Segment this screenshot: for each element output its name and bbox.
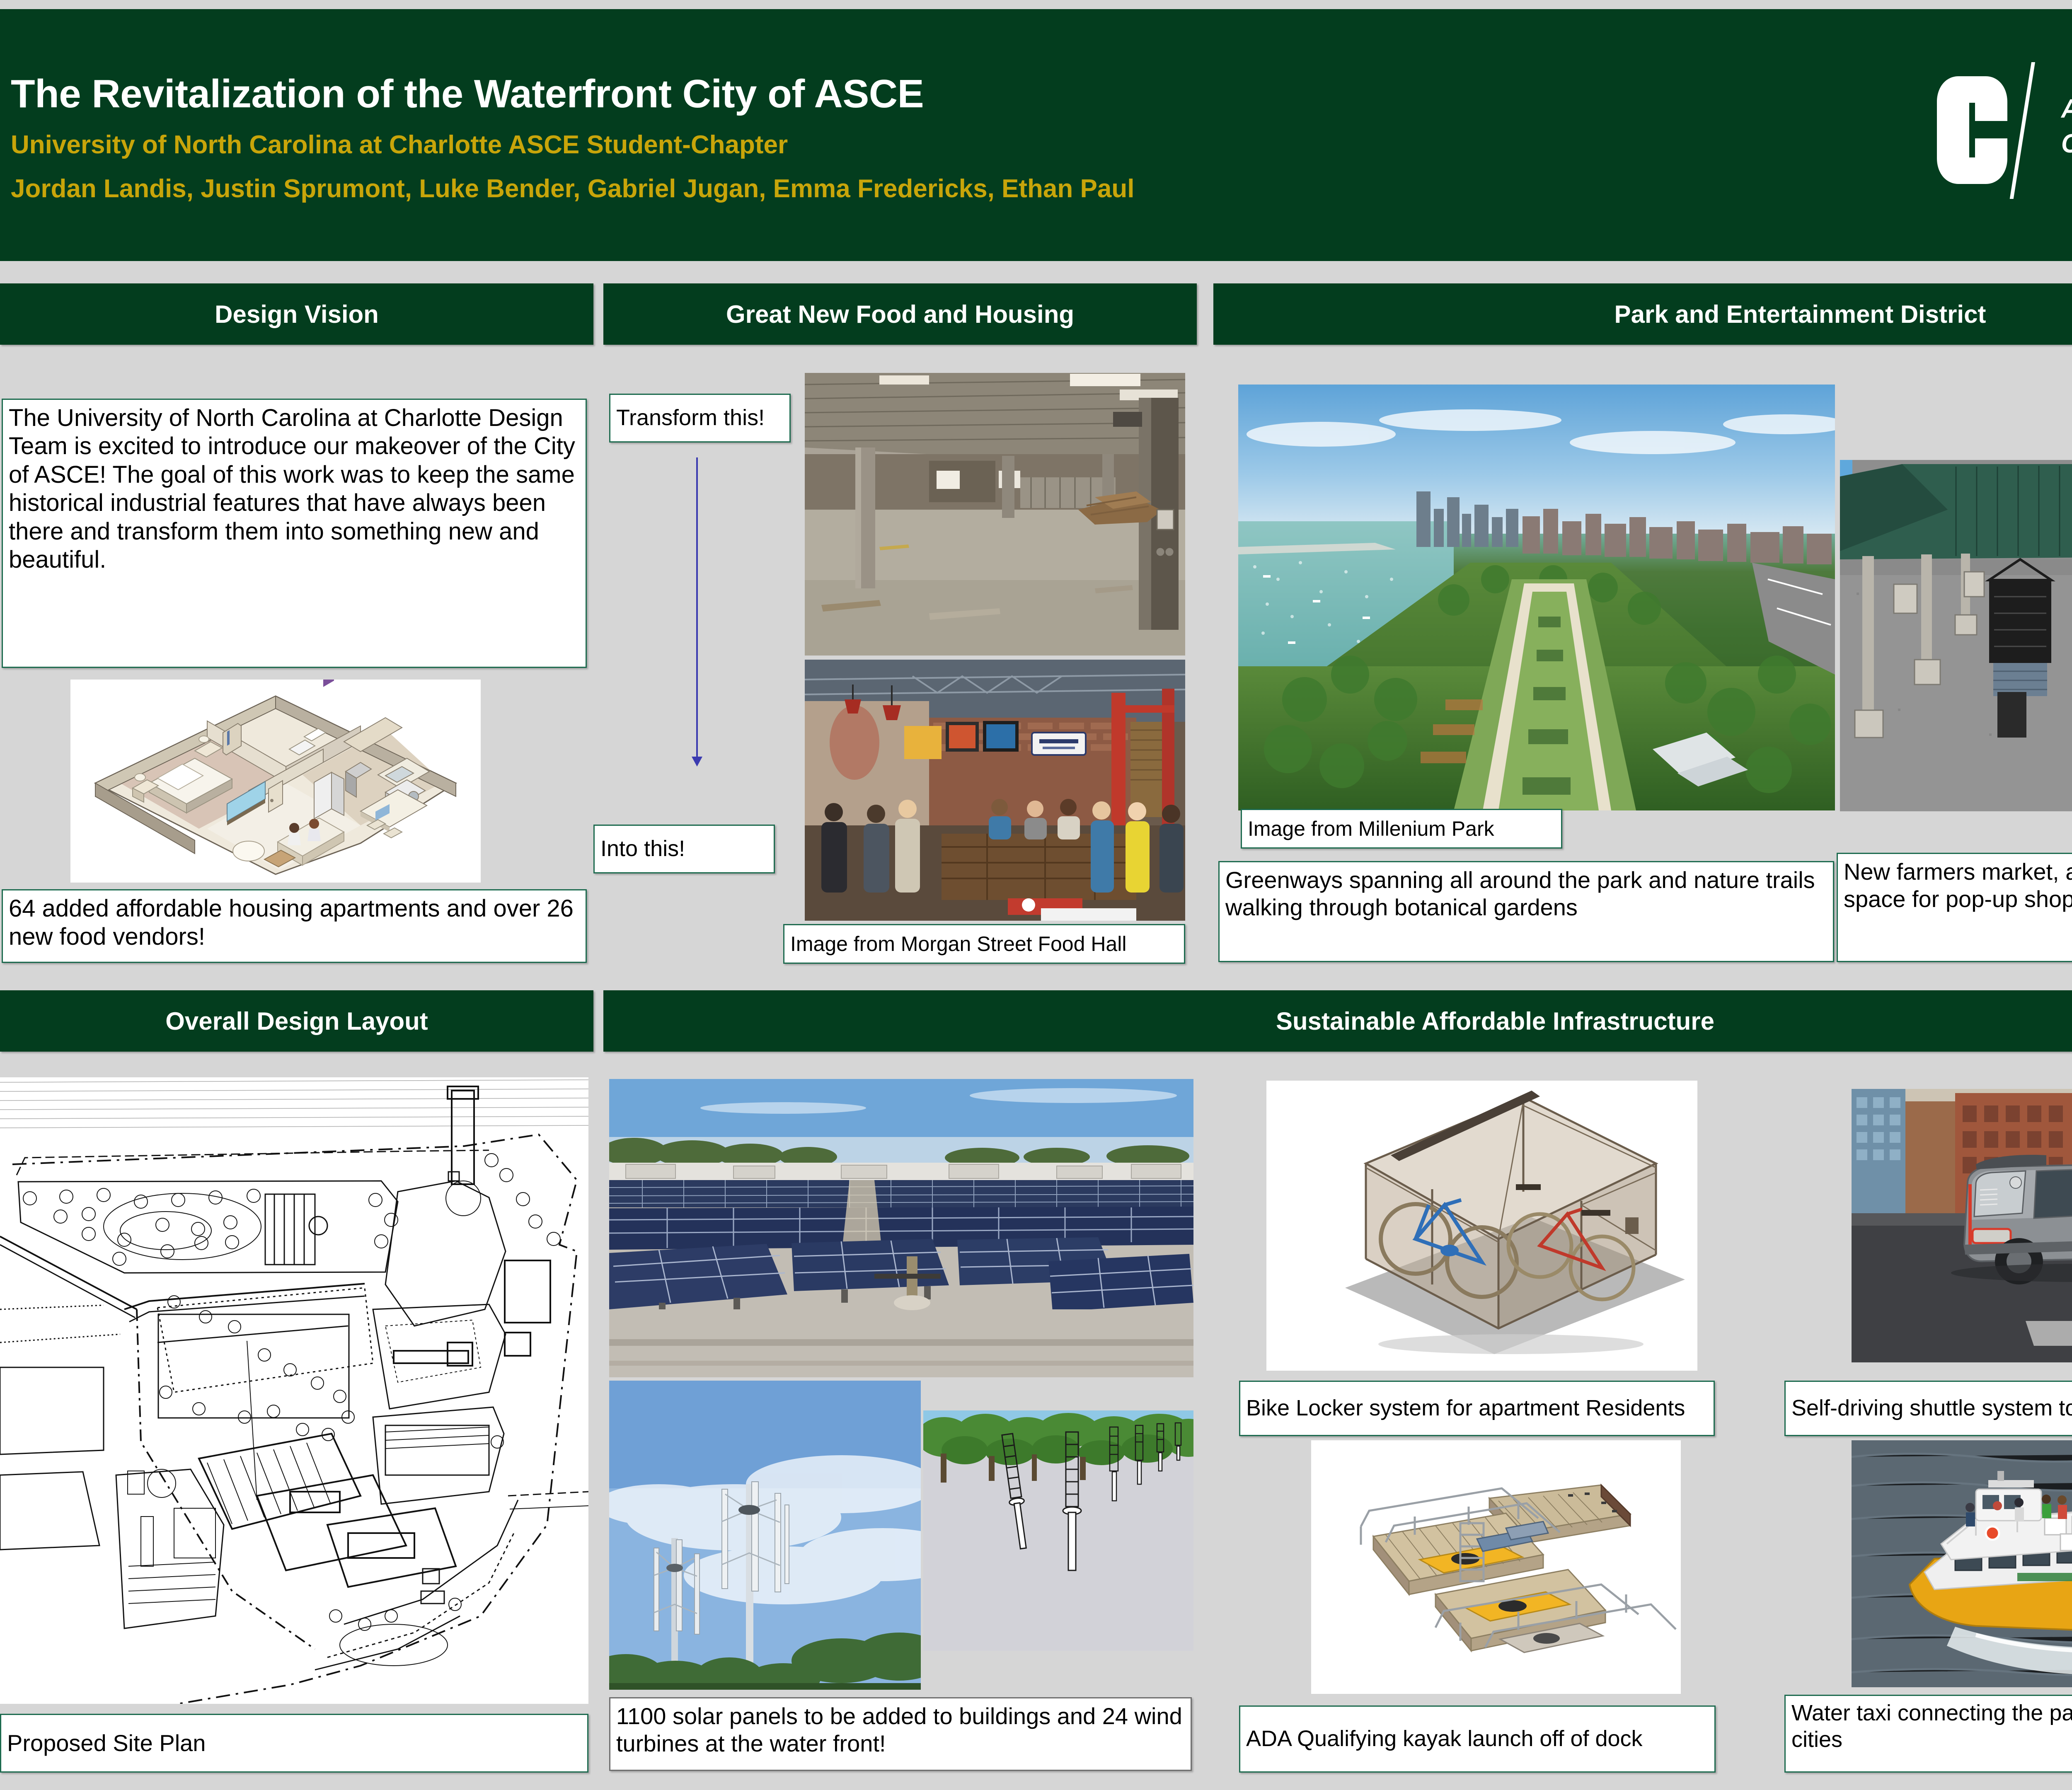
label-transform-this: Transform this!	[609, 394, 791, 443]
park-caption-farmers: New farmers market, amphitheater, and re…	[1837, 853, 2072, 962]
farmers-market-render-illustration: PRODUCTS FARMER'S MARKET	[1840, 460, 2072, 811]
section-header-park-label: Park and Entertainment District	[1615, 300, 1986, 329]
park-caption-greenways: Greenways spanning all around the park a…	[1218, 861, 1834, 962]
section-header-infrastructure: Sustainable Affordable Infrastructure	[603, 990, 2072, 1052]
section-header-park: Park and Entertainment District	[1213, 283, 2072, 345]
rooftop-solar-illustration	[609, 1079, 1193, 1377]
isometric-apartment-image	[70, 680, 481, 883]
shuttle-caption: Self-driving shuttle system to and from …	[1784, 1381, 2072, 1436]
label-into-this: Into this!	[593, 825, 775, 873]
bike-locker-caption: Bike Locker system for apartment Residen…	[1239, 1381, 1715, 1436]
asce-wordmark-line2: OF CIVIL ENGINEERS	[2061, 126, 2072, 161]
apartment-floorplan-illustration	[70, 680, 481, 883]
water-taxi-caption: Water taxi connecting the park to neighb…	[1784, 1695, 2072, 1773]
section-header-overall-layout: Overall Design Layout	[0, 990, 593, 1052]
vertical-turbine-illustration	[609, 1381, 921, 1690]
transformation-arrow-line	[696, 457, 698, 764]
site-plan-caption: Proposed Site Plan	[0, 1714, 588, 1773]
foodhall-interior-illustration	[805, 660, 1185, 921]
farmers-market-image: PRODUCTS FARMER'S MARKET	[1840, 460, 2072, 811]
asce-wordmark: AMERICAN SOCIETY OF CIVIL ENGINEERS	[2061, 91, 2072, 161]
section-header-food-housing: Great New Food and Housing	[603, 283, 1197, 345]
foodhall-after-image	[805, 660, 1185, 921]
site-plan-cad-drawing	[0, 1077, 588, 1704]
millenium-park-credit: Image from Millenium Park	[1241, 809, 1562, 849]
wind-turbine-photo-image	[609, 1381, 921, 1690]
warehouse-before-image	[805, 373, 1185, 656]
poster-canvas: The Revitalization of the Waterfront Cit…	[0, 0, 2072, 1790]
transformation-arrow-head-icon	[692, 757, 702, 767]
kayak-launch-image	[1311, 1440, 1681, 1694]
section-header-food-housing-label: Great New Food and Housing	[726, 300, 1074, 329]
asce-wordmark-line1: AMERICAN SOCIETY	[2061, 91, 2072, 126]
wind-turbine-render-image	[923, 1410, 1193, 1651]
warehouse-interior-illustration	[805, 373, 1185, 656]
section-header-design-vision: Design Vision	[0, 283, 593, 345]
affiliation-subtitle: University of North Carolina at Charlott…	[11, 130, 788, 160]
poster-banner: The Revitalization of the Waterfront Cit…	[0, 9, 2072, 261]
page-title: The Revitalization of the Waterfront Cit…	[11, 71, 924, 117]
shuttle-image	[1852, 1089, 2072, 1362]
bike-locker-render-illustration	[1266, 1081, 1697, 1371]
solar-turbine-caption: 1100 solar panels to be added to buildin…	[609, 1697, 1192, 1771]
self-driving-shuttle-illustration	[1852, 1089, 2072, 1362]
design-vision-stat: 64 added affordable housing apartments a…	[2, 889, 587, 963]
section-header-design-vision-label: Design Vision	[215, 300, 379, 329]
millenium-park-image	[1238, 385, 1835, 810]
section-header-overall-layout-label: Overall Design Layout	[165, 1007, 428, 1035]
water-taxi-illustration	[1852, 1440, 2072, 1687]
asce-logo: AMERICAN SOCIETY OF CIVIL ENGINEERS	[1937, 62, 2072, 199]
turbine-3d-render-illustration	[923, 1410, 1193, 1651]
kayak-launch-render-illustration	[1311, 1440, 1681, 1694]
kayak-launch-caption: ADA Qualifying kayak launch off of dock	[1239, 1705, 1716, 1773]
author-list: Jordan Landis, Justin Sprumont, Luke Ben…	[11, 174, 1134, 203]
bike-locker-image	[1266, 1081, 1697, 1371]
site-plan-image	[0, 1077, 588, 1704]
solar-panels-image	[609, 1079, 1193, 1377]
foodhall-image-credit: Image from Morgan Street Food Hall	[783, 924, 1185, 964]
asce-c-mark-icon	[1937, 76, 2020, 184]
water-taxi-image	[1852, 1440, 2072, 1687]
millenium-park-aerial-illustration	[1238, 385, 1835, 810]
section-header-infrastructure-label: Sustainable Affordable Infrastructure	[1276, 1007, 1714, 1035]
design-vision-body: The University of North Carolina at Char…	[2, 399, 587, 668]
